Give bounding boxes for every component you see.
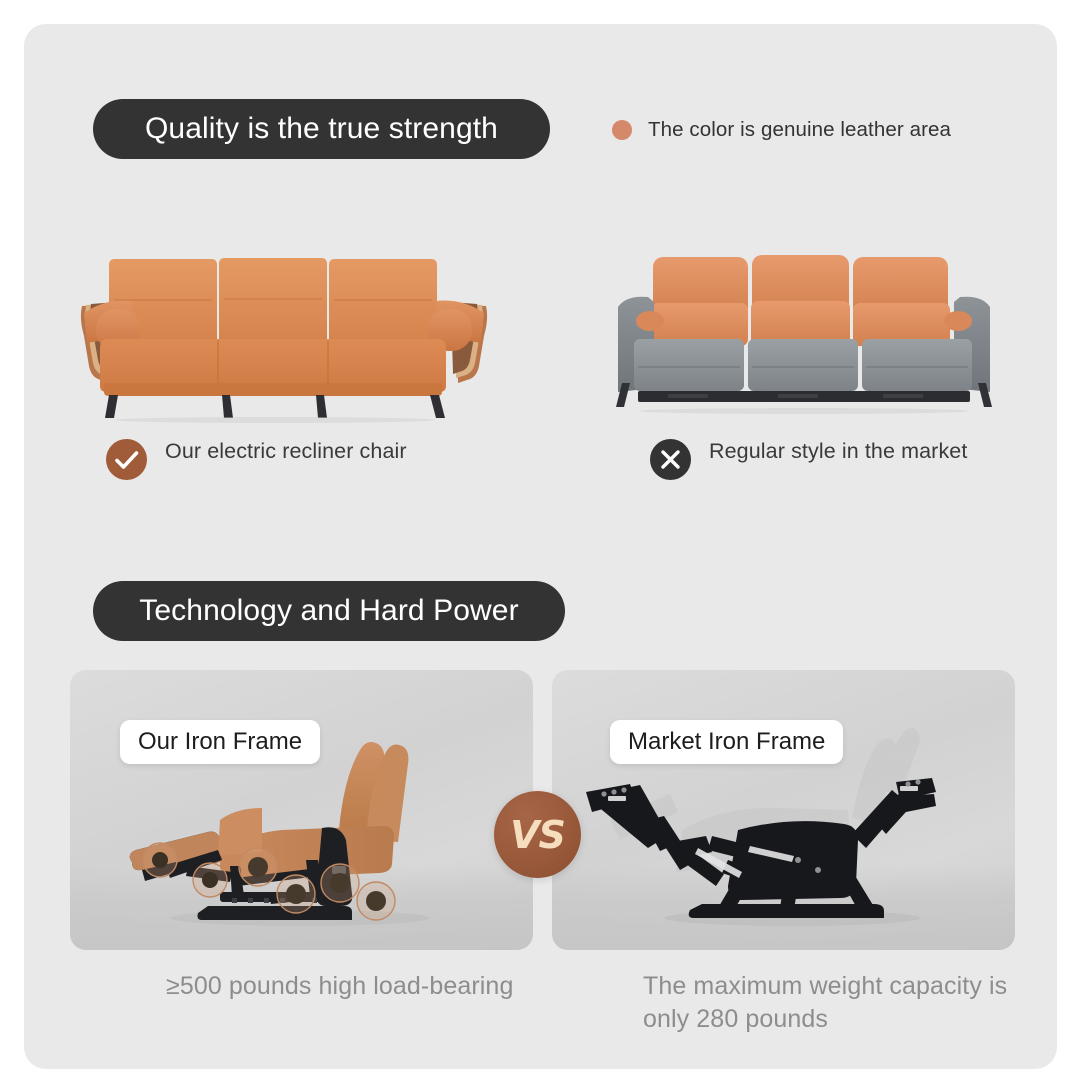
market-sofa-image [598,243,1010,423]
our-sofa-caption: Our electric recliner chair [106,437,436,480]
our-frame-footnote: ≥500 pounds high load-bearing [166,970,526,1003]
market-frame-illustration [552,670,1015,950]
our-iron-frame-panel: Our Iron Frame [70,670,533,950]
our-sofa-image [78,243,490,423]
legend: The color is genuine leather area [612,118,951,142]
our-sofa-caption-text: Our electric recliner chair [165,437,407,465]
infographic-page: Quality is the true strength The color i… [0,0,1080,1080]
legend-dot-icon [612,120,632,140]
versus-label: VS [510,813,565,857]
legend-label: The color is genuine leather area [648,118,951,142]
market-iron-frame-panel: Market Iron Frame [552,670,1015,950]
our-frame-illustration [70,670,533,950]
x-circle-icon [650,439,691,480]
section-two-headline: Technology and Hard Power [93,581,565,641]
check-circle-icon [106,439,147,480]
our-iron-frame-label: Our Iron Frame [120,720,320,764]
section-one-headline: Quality is the true strength [93,99,550,159]
market-frame-footnote: The maximum weight capacity is only 280 … [643,970,1043,1036]
market-sofa-caption: Regular style in the market [650,437,980,480]
market-iron-frame-label: Market Iron Frame [610,720,843,764]
versus-badge: VS [494,791,581,878]
market-sofa-caption-text: Regular style in the market [709,437,967,465]
